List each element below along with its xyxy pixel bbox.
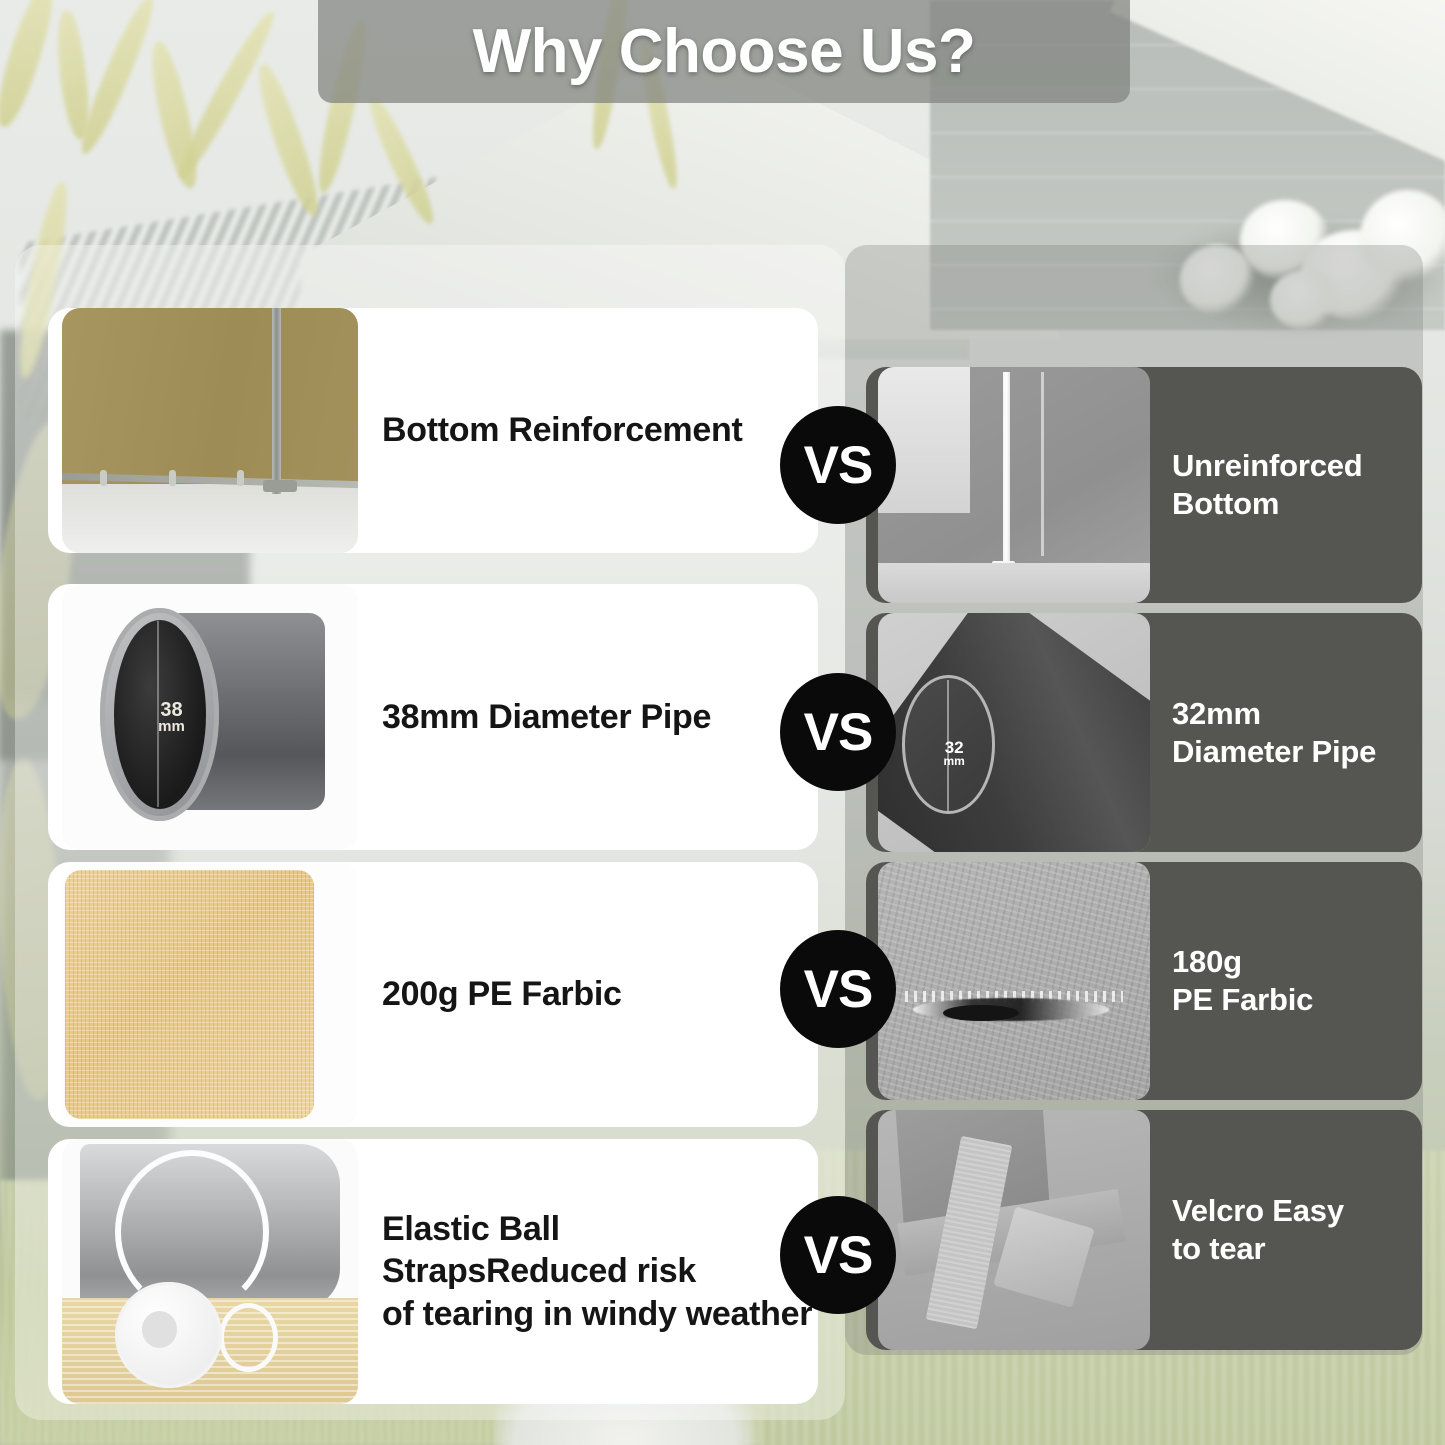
- con-card-row-4[interactable]: Velcro Easy to tear: [866, 1110, 1422, 1350]
- con-label-line: 180g: [1172, 943, 1313, 981]
- pipe-32-callout: 32 mm: [930, 740, 979, 768]
- vs-label: VS: [804, 702, 873, 763]
- con-label-line: PE Farbic: [1172, 981, 1313, 1019]
- pipe-32mm-photo: 32 mm: [878, 613, 1150, 852]
- reinforced-bottom-photo: [62, 308, 358, 553]
- vs-badge-row-2: VS: [780, 673, 896, 791]
- vs-badge-row-3: VS: [780, 930, 896, 1048]
- pro-label-row-1: Bottom Reinforcement: [382, 409, 742, 452]
- vs-label: VS: [804, 435, 873, 496]
- pro-card-row-4[interactable]: Elastic Ball StrapsReduced risk of teari…: [48, 1139, 818, 1404]
- con-card-row-3[interactable]: 180g PE Farbic: [866, 862, 1422, 1100]
- vs-badge-row-4: VS: [780, 1196, 896, 1314]
- pe-fabric-200g-swatch: [62, 862, 358, 1127]
- pro-label-row-4: Elastic Ball StrapsReduced risk of teari…: [382, 1208, 812, 1336]
- pro-card-row-2[interactable]: 38 mm 38mm Diameter Pipe: [48, 584, 818, 850]
- con-label-row-3: 180g PE Farbic: [1172, 943, 1313, 1019]
- pro-label-row-2: 38mm Diameter Pipe: [382, 696, 711, 739]
- elastic-ball-strap-photo: [62, 1139, 358, 1404]
- con-label-row-2: 32mm Diameter Pipe: [1172, 695, 1376, 771]
- vs-badge-row-1: VS: [780, 406, 896, 524]
- con-card-row-2[interactable]: 32 mm 32mm Diameter Pipe: [866, 613, 1422, 852]
- con-label-line: Diameter Pipe: [1172, 733, 1376, 771]
- con-label-line: Velcro Easy: [1172, 1192, 1344, 1230]
- title-banner: Why Choose Us?: [318, 0, 1130, 103]
- vs-label: VS: [804, 959, 873, 1020]
- unreinforced-bottom-photo: [878, 367, 1150, 603]
- con-label-line: Bottom: [1172, 485, 1363, 523]
- con-label-row-4: Velcro Easy to tear: [1172, 1192, 1344, 1268]
- con-label-line: 32mm: [1172, 695, 1376, 733]
- pro-card-row-3[interactable]: 200g PE Farbic: [48, 862, 818, 1127]
- pro-card-row-1[interactable]: Bottom Reinforcement: [48, 308, 818, 553]
- pro-label-line: of tearing in windy weather: [382, 1293, 812, 1336]
- pro-label-line: StrapsReduced risk: [382, 1250, 812, 1293]
- con-card-row-1[interactable]: Unreinforced Bottom: [866, 367, 1422, 603]
- pipe-38mm-photo: 38 mm: [62, 584, 358, 850]
- vs-label: VS: [804, 1225, 873, 1286]
- pipe-38-callout: 38 mm: [139, 701, 204, 734]
- page-title: Why Choose Us?: [473, 16, 976, 87]
- torn-pe-fabric-180g-photo: [878, 862, 1150, 1100]
- con-label-line: to tear: [1172, 1230, 1344, 1268]
- pro-label-row-3: 200g PE Farbic: [382, 973, 622, 1016]
- con-label-line: Unreinforced: [1172, 447, 1363, 485]
- pro-label-line: Elastic Ball: [382, 1208, 812, 1251]
- velcro-strap-photo: [878, 1110, 1150, 1350]
- con-label-row-1: Unreinforced Bottom: [1172, 447, 1363, 523]
